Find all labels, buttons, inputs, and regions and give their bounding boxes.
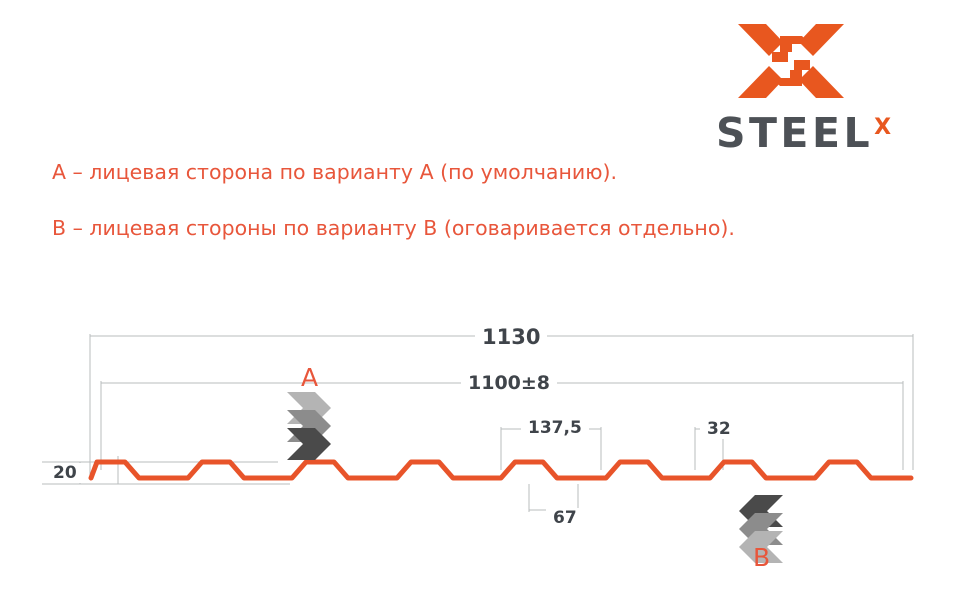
dimension-label-crest-width: 32 — [700, 419, 738, 439]
marker-face-side-a — [287, 392, 331, 460]
dimension-label-valley-width: 67 — [546, 508, 584, 528]
screenshot-root: STEELX A – лицевая сторона по варианту А… — [0, 0, 970, 597]
profile-technical-drawing — [0, 0, 970, 597]
dimension-label-useful-width: 1100±8 — [461, 372, 557, 394]
dimension-label-profile-height: 20 — [49, 463, 81, 483]
marker-label-b: B — [753, 543, 770, 572]
chevron-down-icon-3 — [287, 428, 331, 460]
dimension-label-rib-pitch: 137,5 — [521, 418, 589, 438]
marker-label-a: A — [301, 363, 318, 392]
dimension-label-overall-width: 1130 — [475, 325, 547, 349]
